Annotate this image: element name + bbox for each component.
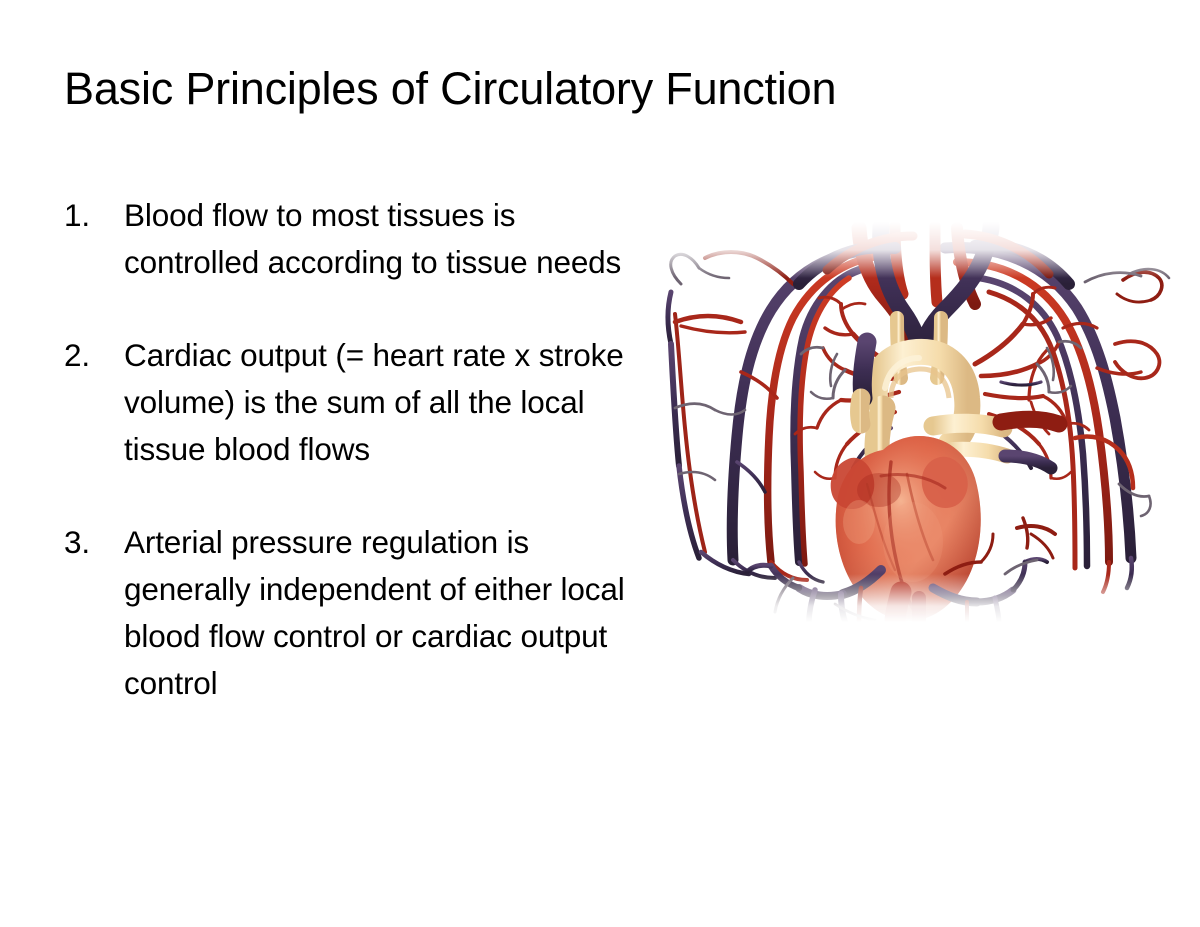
numbered-principles-list: 1. Blood flow to most tissues is control… — [64, 192, 644, 707]
list-item-number: 3. — [64, 519, 110, 566]
list-item-text: Blood flow to most tissues is controlled… — [124, 192, 644, 286]
slide-canvas: Basic Principles of Circulatory Function… — [0, 0, 1200, 927]
list-item-number: 2. — [64, 332, 110, 379]
page-title: Basic Principles of Circulatory Function — [64, 64, 1124, 114]
list-item-text: Arterial pressure regulation is generall… — [124, 519, 644, 707]
list-item-number: 1. — [64, 192, 110, 239]
heart-illustration-svg — [645, 222, 1185, 622]
list-item: 3. Arterial pressure regulation is gener… — [64, 519, 644, 707]
image-edge-fade — [645, 222, 1185, 622]
heart-and-great-vessels-image — [645, 222, 1185, 622]
list-item-text: Cardiac output (= heart rate x stroke vo… — [124, 332, 644, 473]
list-item: 1. Blood flow to most tissues is control… — [64, 192, 644, 286]
list-item: 2. Cardiac output (= heart rate x stroke… — [64, 332, 644, 473]
